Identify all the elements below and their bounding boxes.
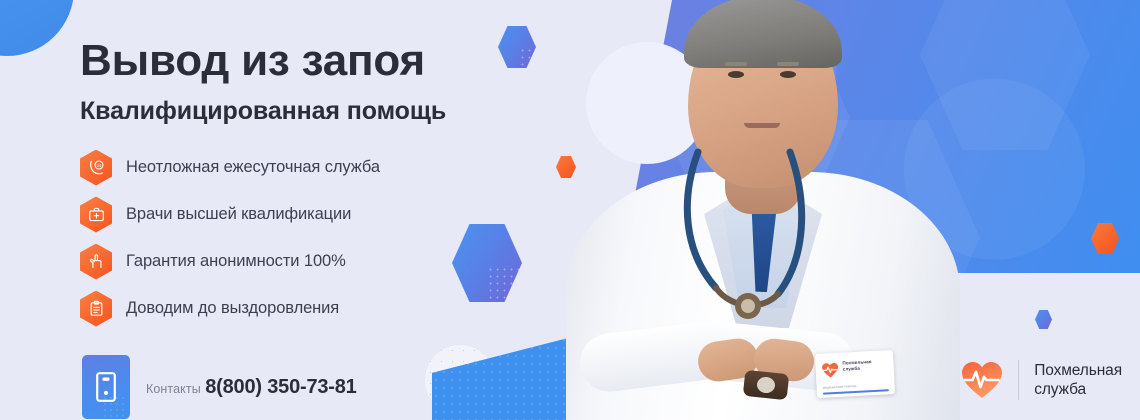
list-item-label: Врачи высшей квалификации: [126, 205, 351, 224]
logo-line2: служба: [1034, 380, 1122, 399]
contacts-phone[interactable]: 8(800) 350-73-81: [205, 376, 356, 398]
smartphone-icon: [82, 355, 130, 419]
contacts-block[interactable]: Контакты 8(800) 350-73-81: [82, 355, 357, 419]
list-item: Гарантия анонимности 100%: [80, 239, 500, 284]
banner-content: Вывод из запоя Квалифицированная помощь …: [0, 0, 1140, 420]
phone-24h-icon: 24: [80, 150, 112, 186]
list-item-label: Неотложная ежесуточная служба: [126, 158, 380, 177]
list-item: Доводим до выздоровления: [80, 286, 500, 331]
logo-divider: [1018, 360, 1019, 400]
clipboard-icon: [80, 291, 112, 327]
list-item-label: Гарантия анонимности 100%: [126, 252, 346, 271]
svg-text:24: 24: [96, 163, 101, 168]
contacts-label: Контакты: [146, 382, 201, 396]
hand-shield-icon: [80, 244, 112, 280]
page-subtitle: Квалифицированная помощь: [80, 97, 446, 126]
list-item-label: Доводим до выздоровления: [126, 299, 339, 318]
page-title: Вывод из запоя: [80, 36, 425, 86]
promo-banner: Похмельная служба медицинская помощь Выв…: [0, 0, 1140, 420]
list-item: Врачи высшей квалификации: [80, 192, 500, 237]
heart-pulse-icon: [961, 361, 1003, 399]
logo-line1: Похмельная: [1034, 361, 1122, 380]
brand-logo[interactable]: Похмельная служба: [961, 360, 1122, 400]
feature-list: 24 Неотложная ежесуточная служба Врачи в…: [80, 145, 500, 333]
list-item: 24 Неотложная ежесуточная служба: [80, 145, 500, 190]
medical-case-icon: [80, 197, 112, 233]
